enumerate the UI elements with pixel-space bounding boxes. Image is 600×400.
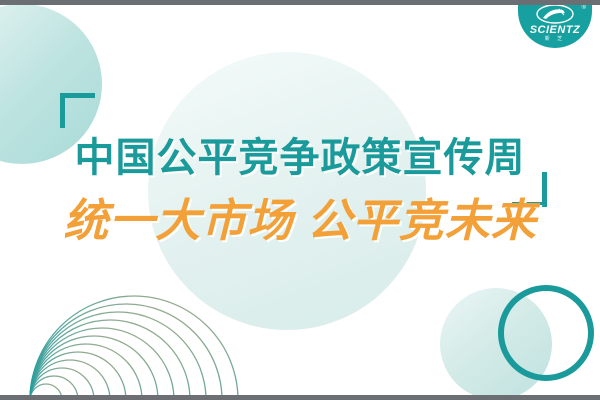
registered-trademark-icon: ® [582, 5, 586, 11]
logo-subtext: 新 芝 [545, 36, 565, 42]
concentric-arcs-bottom-left-icon [0, 295, 260, 400]
headline-line-primary: 中国公平竞争政策宣传周 [0, 132, 600, 184]
logo-wordmark: SCIENTZ [530, 25, 581, 36]
poster-canvas: 中国公平竞争政策宣传周 统一大市场 公平竞未来 ® SCIENTZ 新 芝 [0, 0, 600, 400]
corner-bracket-top-left-icon [60, 93, 95, 128]
window-bottom-bar [0, 395, 600, 400]
outline-ring-bottom-right-icon [498, 285, 594, 381]
scientz-swoosh-icon [535, 4, 575, 24]
headline-block: 中国公平竞争政策宣传周 统一大市场 公平竞未来 [0, 132, 600, 250]
headline-line-secondary: 统一大市场 公平竞未来 [0, 192, 600, 250]
window-top-bar [0, 0, 600, 5]
